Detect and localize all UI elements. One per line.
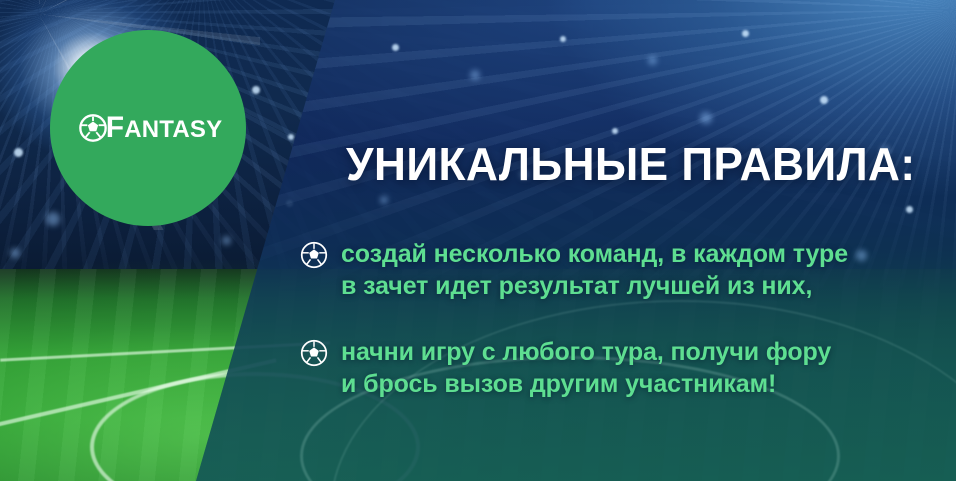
bokeh-dot [700,112,712,124]
fantasy-logo[interactable]: FANTASY [50,30,246,226]
list-item-text: начни игру с любого тура, получи фору и … [341,336,831,400]
soccer-ball-icon [78,113,108,143]
bokeh-dot [612,128,618,134]
bokeh-dot [252,86,260,94]
list-item-text: создай несколько команд, в каждом туре в… [341,238,848,302]
logo-word-first-letter: F [106,111,125,144]
bokeh-dot [906,206,913,213]
page-title: УНИКАЛЬНЫЕ ПРАВИЛА: [346,141,916,187]
bokeh-dot [820,96,828,104]
bokeh-dot [392,44,399,51]
list-item-line: создай несколько команд, в каждом туре [341,238,848,270]
bokeh-dot [560,36,566,42]
list-item-line: начни игру с любого тура, получи фору [341,336,831,368]
bokeh-dot [648,56,657,65]
list-item-line: и брось вызов другим участникам! [341,368,831,400]
bokeh-dot [380,196,388,204]
bokeh-dot [14,148,23,157]
list-item: создай несколько команд, в каждом туре в… [300,238,920,302]
bokeh-dot [288,134,294,140]
list-item: начни игру с любого тура, получи фору и … [300,336,920,400]
list-item-line: в зачет идет результат лучшей из них, [341,270,848,302]
bokeh-dot [10,248,20,258]
bokeh-dot [470,70,480,80]
logo-word-rest: ANTASY [124,116,222,143]
logo-wordmark: FANTASY [106,113,223,143]
bokeh-dot [742,30,749,37]
rules-list: создай несколько команд, в каждом туре в… [300,238,920,400]
bokeh-dot [222,236,231,245]
logo-lockup: FANTASY [78,113,223,143]
bokeh-dot [46,212,60,226]
promo-banner: FANTASY УНИКАЛЬНЫЕ ПРАВИЛА: создай неско… [0,0,956,481]
soccer-ball-icon [300,339,328,367]
soccer-ball-icon [300,241,328,269]
